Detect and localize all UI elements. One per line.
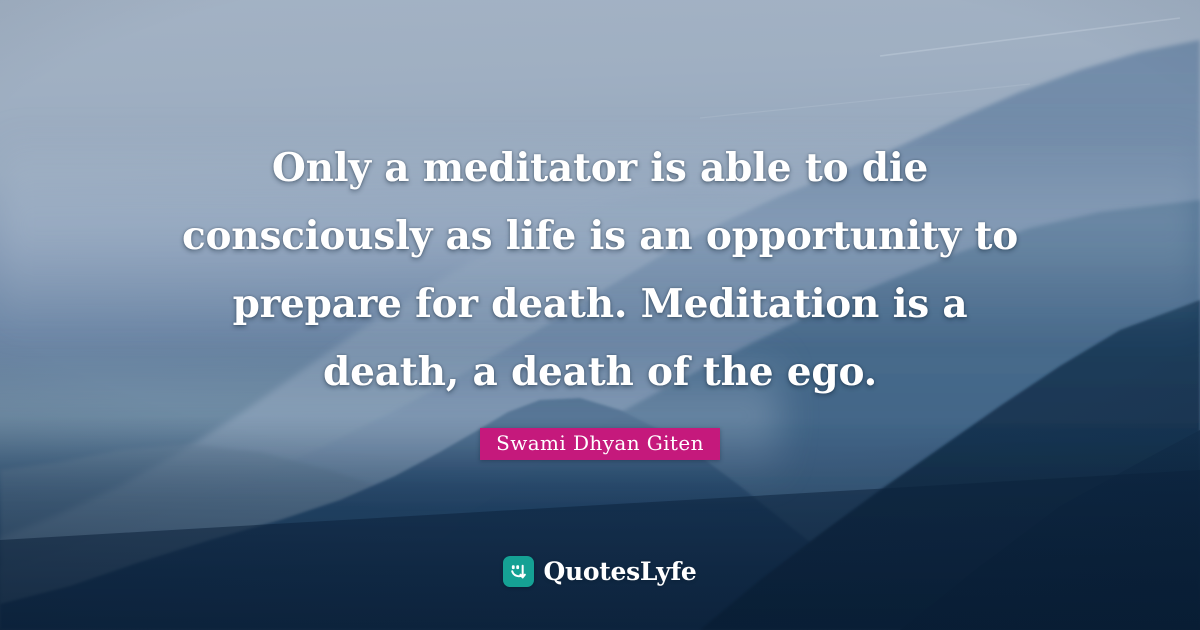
quote-card: Only a meditator is able to die consciou… <box>0 0 1200 630</box>
card-content: Only a meditator is able to die consciou… <box>0 0 1200 630</box>
quote-mark-icon <box>503 556 534 587</box>
brand-name: QuotesLyfe <box>543 557 696 586</box>
brand-footer: QuotesLyfe <box>0 556 1200 587</box>
author-badge-wrap: Swami Dhyan Giten <box>480 428 720 460</box>
author-badge: Swami Dhyan Giten <box>480 428 720 460</box>
quote-text: Only a meditator is able to die consciou… <box>170 0 1030 406</box>
